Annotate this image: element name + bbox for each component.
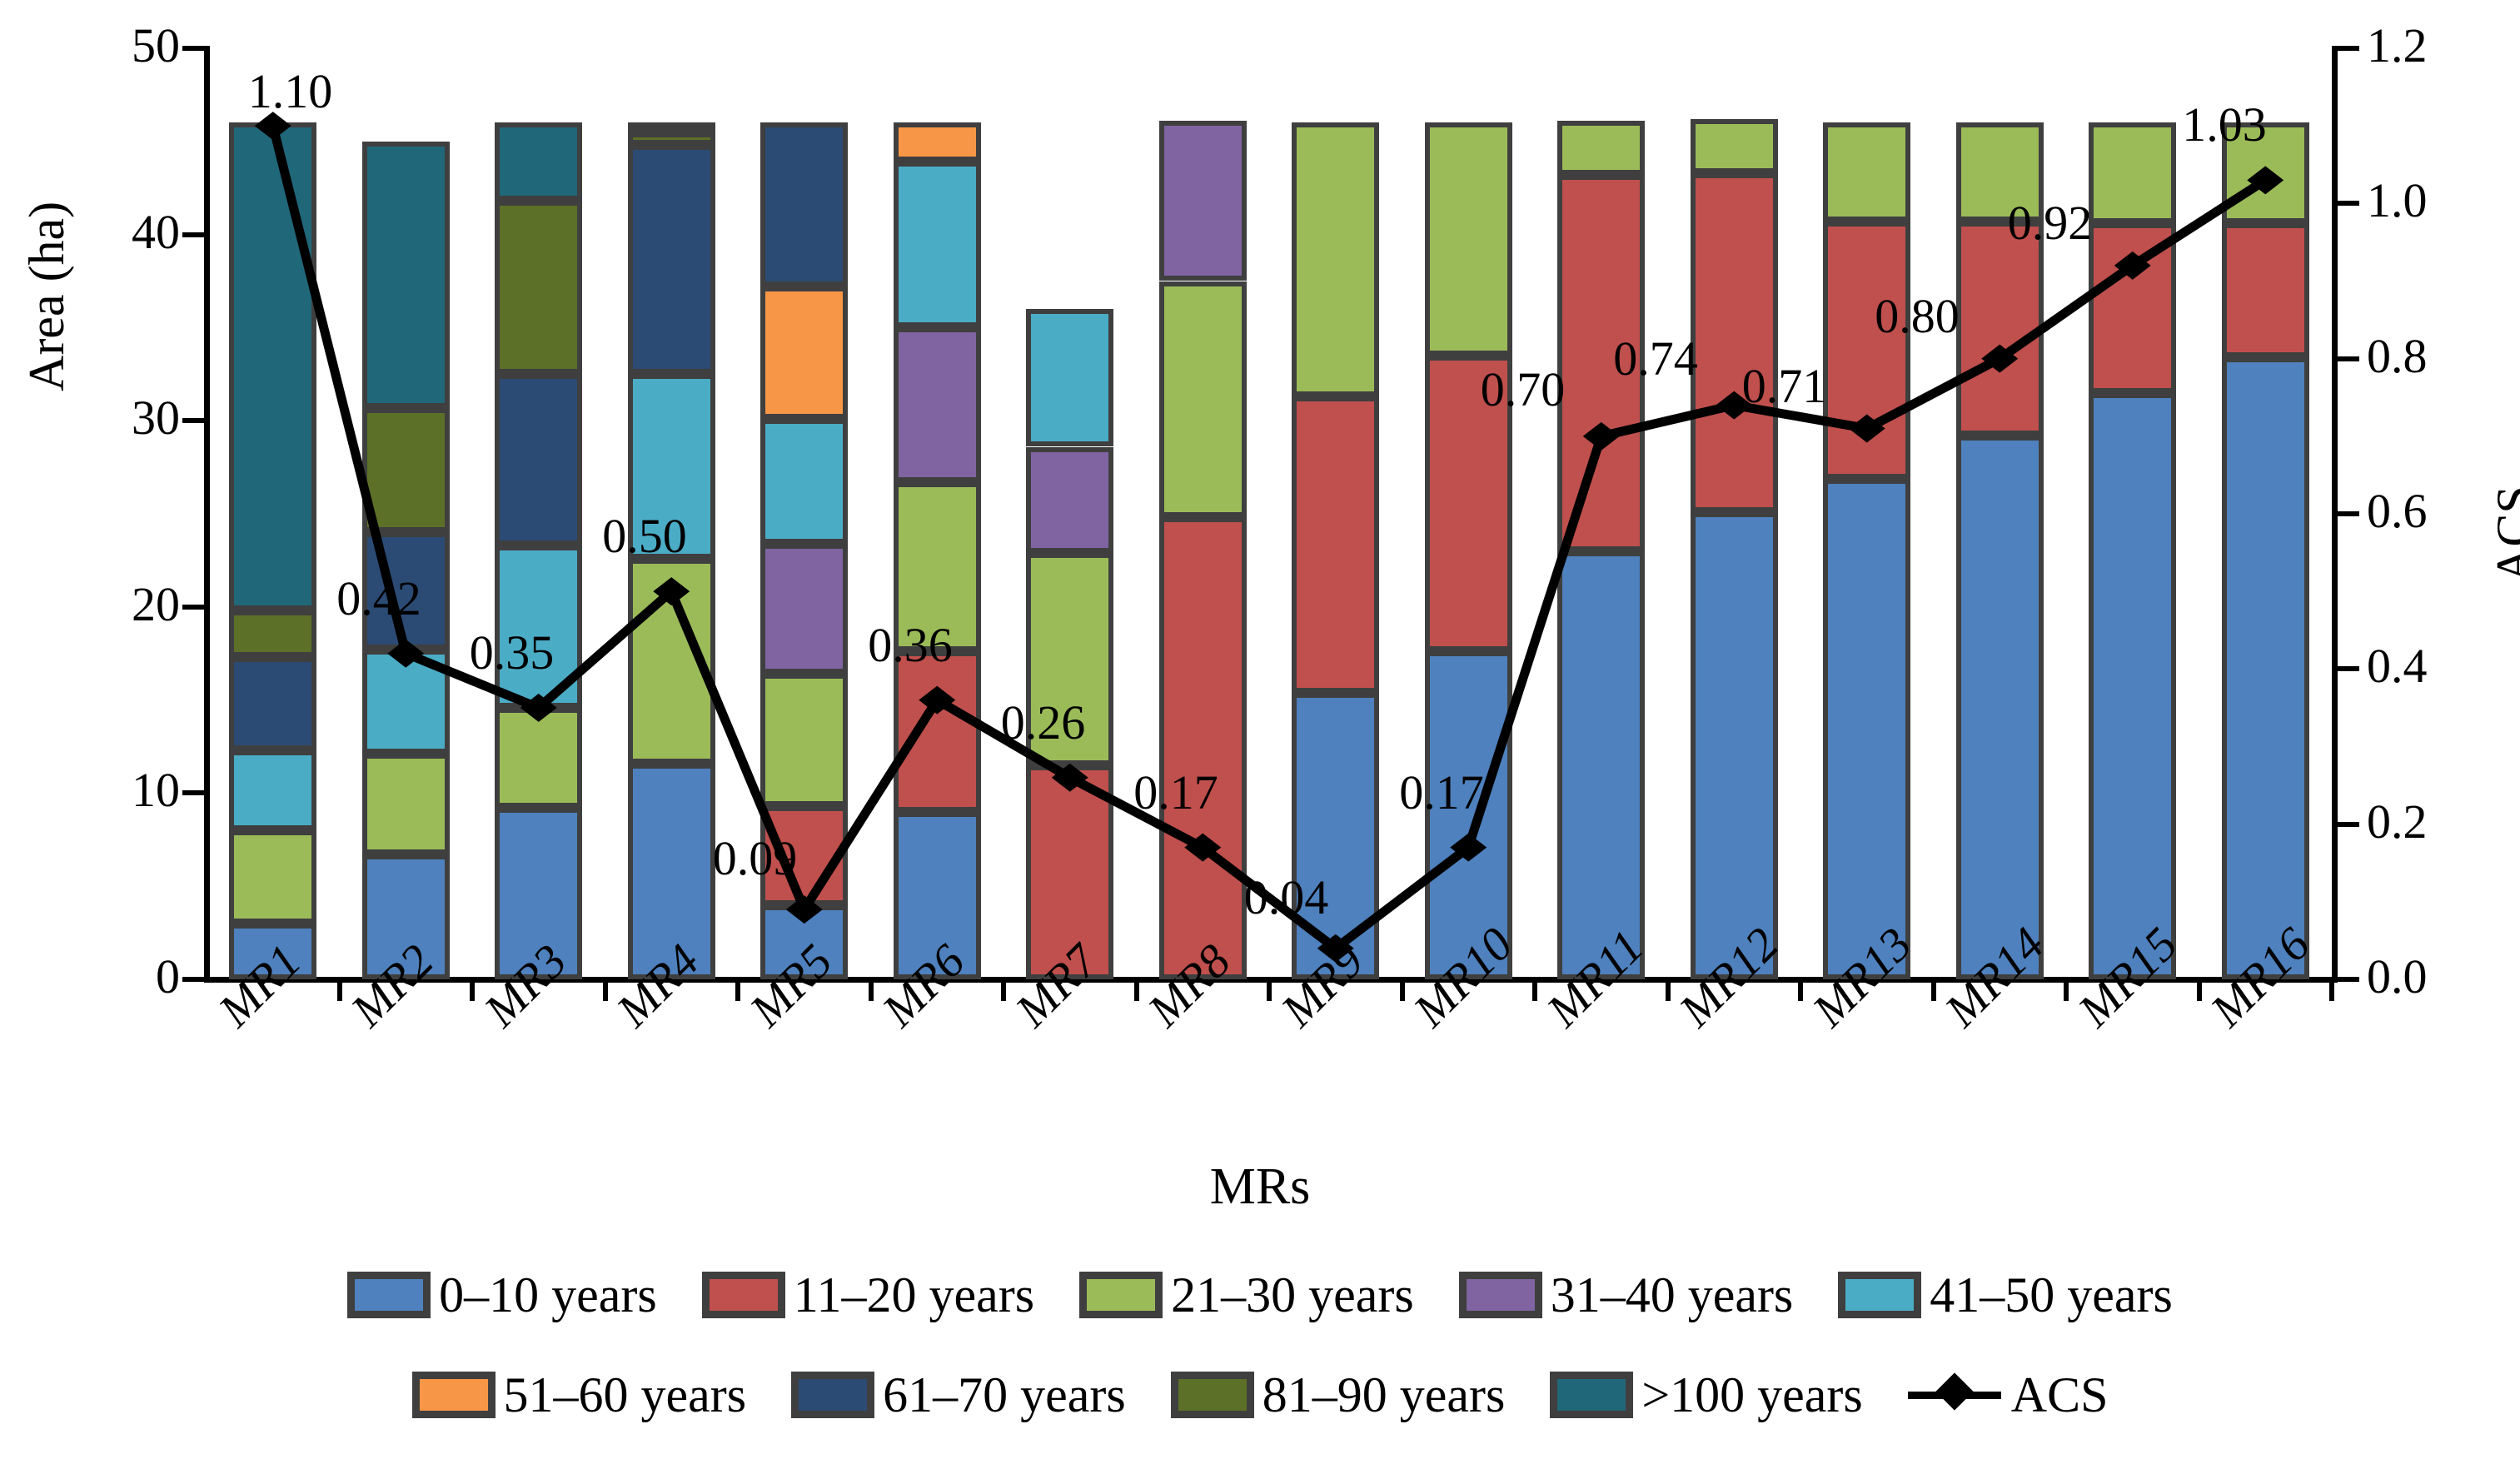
legend-swatch <box>347 1272 431 1318</box>
bar-segment[interactable] <box>2089 393 2176 979</box>
bar-segment[interactable] <box>1159 121 1247 281</box>
bar-segment[interactable] <box>2089 122 2176 223</box>
bar-segment[interactable] <box>1159 281 1247 518</box>
bar-segment[interactable] <box>362 650 450 754</box>
bar-segment[interactable] <box>2222 223 2309 357</box>
bar-segment[interactable] <box>1557 121 1645 175</box>
legend-label: ACS <box>2011 1367 2109 1424</box>
bar-segment[interactable] <box>362 408 450 533</box>
bar-segment[interactable] <box>229 830 316 924</box>
y-axis-left-tick <box>182 977 204 982</box>
y-axis-right-tick <box>2338 201 2359 206</box>
y-axis-left-tick <box>182 46 204 51</box>
bar-mr10[interactable] <box>1425 48 1512 979</box>
bar-segment[interactable] <box>1159 517 1247 979</box>
bar-segment[interactable] <box>495 708 582 809</box>
bar-segment[interactable] <box>1292 396 1379 693</box>
y-axis-left-tick-label: 50 <box>132 22 180 70</box>
y-axis-right-tick-label: 0.6 <box>2367 487 2428 535</box>
y-axis-left-tick-label: 20 <box>132 580 180 629</box>
acs-value-label: 0.92 <box>2008 195 2093 251</box>
acs-value-label: 0.80 <box>1875 288 1960 344</box>
acs-value-label: 0.50 <box>602 508 687 564</box>
y-axis-right-tick-label: 0.0 <box>2367 953 2428 1001</box>
legend-swatch <box>702 1272 785 1318</box>
legend-item[interactable]: 11–20 years <box>702 1267 1034 1324</box>
y-axis-right-tick <box>2338 511 2359 516</box>
bar-segment[interactable] <box>894 651 981 811</box>
legend-swatch <box>412 1372 496 1418</box>
y-axis-right-line <box>2332 46 2338 982</box>
bar-segment[interactable] <box>362 754 450 854</box>
legend-item[interactable]: 31–40 years <box>1459 1267 1794 1324</box>
x-axis-tick <box>2329 983 2334 1001</box>
legend-item[interactable]: >100 years <box>1550 1367 1862 1424</box>
bar-segment[interactable] <box>2089 223 2176 392</box>
legend-item[interactable]: 0–10 years <box>347 1267 657 1324</box>
acs-value-label: 0.42 <box>336 570 421 626</box>
legend-item-acs[interactable]: ACS <box>1908 1367 2109 1424</box>
bar-mr12[interactable] <box>1691 48 1778 979</box>
bar-mr15[interactable] <box>2089 48 2176 979</box>
bar-segment[interactable] <box>894 327 981 482</box>
legend-label: >100 years <box>1641 1367 1862 1424</box>
bar-segment[interactable] <box>1956 222 2044 436</box>
y-axis-right-title: ACS <box>2486 486 2520 583</box>
legend-label: 0–10 years <box>439 1267 657 1324</box>
legend-label: 51–60 years <box>504 1367 747 1424</box>
legend-swatch <box>1459 1272 1542 1318</box>
y-axis-right-tick <box>2338 356 2359 361</box>
legend-item[interactable]: 21–30 years <box>1079 1267 1414 1324</box>
legend-label: 31–40 years <box>1551 1267 1794 1324</box>
acs-value-label: 0.35 <box>470 625 555 680</box>
bar-mr6[interactable] <box>894 48 981 979</box>
y-axis-left-tick-label: 10 <box>132 766 180 814</box>
bar-segment[interactable] <box>628 559 715 764</box>
bar-segment[interactable] <box>495 374 582 545</box>
y-axis-right-tick-label: 1.2 <box>2367 22 2428 70</box>
legend-swatch <box>1079 1272 1163 1318</box>
acs-value-label: 0.71 <box>1742 358 1827 414</box>
legend-swatch <box>1838 1272 1921 1318</box>
bar-segment[interactable] <box>229 657 316 750</box>
legend-label: 21–30 years <box>1171 1267 1414 1324</box>
acs-value-label: 0.36 <box>868 617 953 673</box>
bar-segment[interactable] <box>628 132 715 146</box>
y-axis-left-tick <box>182 790 204 795</box>
y-axis-right-tick-label: 0.8 <box>2367 332 2428 381</box>
acs-value-label: 0.17 <box>1133 764 1218 820</box>
y-axis-left-tick-label: 30 <box>132 394 180 442</box>
bar-mr16[interactable] <box>2222 48 2309 979</box>
bar-mr14[interactable] <box>1956 48 2044 979</box>
bar-segment[interactable] <box>1292 122 1379 396</box>
x-axis-title: MRs <box>0 1158 2520 1217</box>
y-axis-left-tick <box>182 232 204 237</box>
y-axis-right-tick <box>2338 666 2359 671</box>
bar-segment[interactable] <box>760 674 848 806</box>
bar-segment[interactable] <box>1557 551 1645 979</box>
bar-segment[interactable] <box>229 610 316 657</box>
chart-figure: Area (ha) ACS MRs 01020304050 0.00.20.40… <box>0 0 2520 1469</box>
y-axis-left-tick-label: 0 <box>156 953 180 1001</box>
legend-item[interactable]: 81–90 years <box>1171 1367 1506 1424</box>
bar-segment[interactable] <box>760 122 848 286</box>
bar-mr9[interactable] <box>1292 48 1379 979</box>
legend-swatch <box>1550 1372 1633 1418</box>
acs-value-label: 1.03 <box>2182 97 2267 152</box>
acs-value-label: 0.26 <box>1001 695 1086 750</box>
bar-segment[interactable] <box>894 122 981 162</box>
bar-segment[interactable] <box>1026 309 1113 446</box>
bar-segment[interactable] <box>894 162 981 327</box>
bar-segment[interactable] <box>760 544 848 675</box>
bar-segment[interactable] <box>760 419 848 544</box>
y-axis-right-tick <box>2338 977 2359 982</box>
y-axis-left-line <box>204 46 210 982</box>
bar-segment[interactable] <box>495 201 582 374</box>
legend-label: 61–70 years <box>883 1367 1126 1424</box>
y-axis-right-tick <box>2338 46 2359 51</box>
legend-row-1: 0–10 years11–20 years21–30 years31–40 ye… <box>0 1245 2520 1345</box>
legend-swatch <box>1171 1372 1254 1418</box>
bar-segment[interactable] <box>1425 122 1512 356</box>
legend-item[interactable]: 51–60 years <box>412 1367 747 1424</box>
bar-segment[interactable] <box>760 286 848 419</box>
y-axis-left-title: Area (ha) <box>18 202 76 391</box>
bar-segment[interactable] <box>229 750 316 830</box>
bar-segment[interactable] <box>2222 357 2309 979</box>
legend-label: 81–90 years <box>1262 1367 1506 1424</box>
legend-swatch <box>791 1372 874 1418</box>
bar-segment[interactable] <box>1823 122 1910 222</box>
acs-value-label: 0.17 <box>1399 764 1484 820</box>
chart-legend: 0–10 years11–20 years21–30 years31–40 ye… <box>0 1245 2520 1445</box>
legend-item[interactable]: 41–50 years <box>1838 1267 2173 1324</box>
bar-segment[interactable] <box>1823 222 1910 479</box>
bar-segment[interactable] <box>229 122 316 610</box>
bar-mr1[interactable] <box>229 48 316 979</box>
bar-mr3[interactable] <box>495 48 582 979</box>
legend-label: 41–50 years <box>1930 1267 2173 1324</box>
acs-value-label: 0.74 <box>1613 331 1698 386</box>
bar-segment[interactable] <box>1956 436 2044 979</box>
bar-mr7[interactable] <box>1026 48 1113 979</box>
bar-mr2[interactable] <box>362 48 450 979</box>
bar-segment[interactable] <box>495 122 582 201</box>
y-axis-right-tick-label: 0.2 <box>2367 798 2428 846</box>
bar-segment[interactable] <box>1691 173 1778 512</box>
bar-segment[interactable] <box>628 122 715 132</box>
bar-segment[interactable] <box>1691 119 1778 173</box>
y-axis-right-tick-label: 0.4 <box>2367 642 2428 690</box>
bar-mr8[interactable] <box>1159 48 1247 979</box>
legend-label: 11–20 years <box>794 1267 1034 1324</box>
legend-item[interactable]: 61–70 years <box>791 1367 1126 1424</box>
y-axis-left-tick <box>182 605 204 610</box>
bar-segment[interactable] <box>1026 447 1113 553</box>
acs-value-label: 0.09 <box>713 830 798 886</box>
acs-value-label: 0.70 <box>1481 361 1566 417</box>
acs-value-label: 1.10 <box>248 63 333 119</box>
y-axis-right-tick <box>2338 822 2359 827</box>
y-axis-left-tick <box>182 418 204 423</box>
bar-segment[interactable] <box>1823 479 1910 979</box>
bar-mr13[interactable] <box>1823 48 1910 979</box>
acs-line-marker-icon <box>1908 1372 2001 1418</box>
bar-segment[interactable] <box>1691 512 1778 979</box>
legend-row-2: 51–60 years61–70 years81–90 years>100 ye… <box>0 1345 2520 1445</box>
bar-mr11[interactable] <box>1557 48 1645 979</box>
bar-segment[interactable] <box>362 142 450 408</box>
y-axis-right-tick-label: 1.0 <box>2367 177 2428 225</box>
bar-segment[interactable] <box>628 145 715 374</box>
y-axis-left-tick-label: 40 <box>132 208 180 256</box>
acs-value-label: 0.04 <box>1244 869 1329 925</box>
